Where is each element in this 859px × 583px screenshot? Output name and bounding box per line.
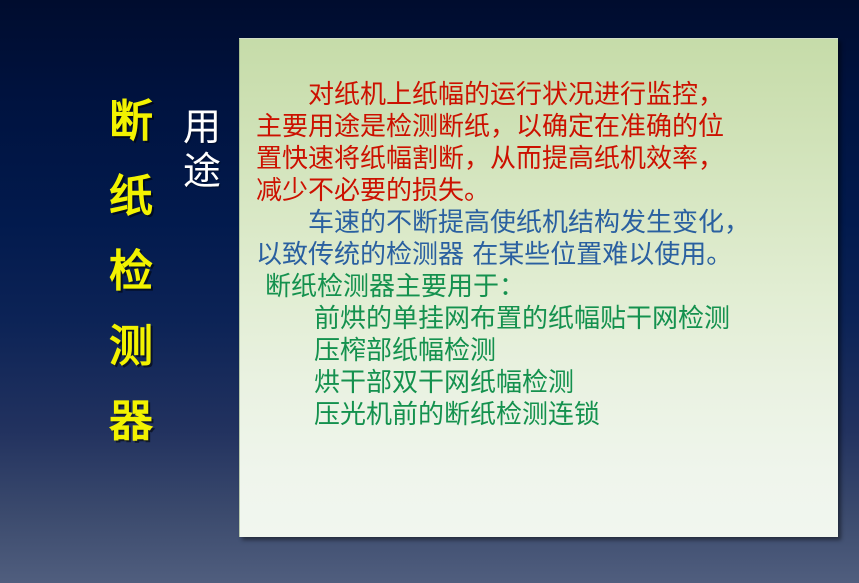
slide-canvas: 断 纸 检 测 器 用 途 对纸机上纸幅的运行状况进行监控， 主要用途是检测断纸… [0, 0, 859, 583]
vertical-title-char-5: 器 [109, 400, 153, 446]
vertical-title: 断 纸 检 测 器 [96, 100, 166, 446]
paragraph-background: 车速的不断提高使纸机结构发生变化， 以致传统的检测器 在某些位置难以使用。 [256, 207, 831, 271]
purpose-line-1: 对纸机上纸幅的运行状况进行监控， [256, 79, 831, 111]
paragraph-purpose: 对纸机上纸幅的运行状况进行监控， 主要用途是检测断纸，以确定在准确的位 置快速将… [256, 79, 831, 207]
applications-item-1: 前烘的单挂网布置的纸幅贴干网检测 [256, 303, 831, 335]
vertical-title-char-1: 断 [109, 100, 153, 146]
content-panel: 对纸机上纸幅的运行状况进行监控， 主要用途是检测断纸，以确定在准确的位 置快速将… [239, 38, 838, 537]
background-line-2: 以致传统的检测器 在某些位置难以使用。 [256, 239, 831, 271]
purpose-line-4: 减少不必要的损失。 [256, 175, 831, 207]
background-line-1: 车速的不断提高使纸机结构发生变化， [256, 207, 831, 239]
content-text-body: 对纸机上纸幅的运行状况进行监控， 主要用途是检测断纸，以确定在准确的位 置快速将… [256, 79, 831, 431]
applications-item-2: 压榨部纸幅检测 [256, 335, 831, 367]
vertical-title-char-3: 检 [109, 250, 153, 296]
applications-item-4: 压光机前的断纸检测连锁 [256, 399, 831, 431]
vertical-subtitle-char-2: 途 [183, 152, 221, 196]
vertical-title-char-4: 测 [109, 325, 153, 371]
paragraph-applications: 断纸检测器主要用于： 前烘的单挂网布置的纸幅贴干网检测 压榨部纸幅检测 烘干部双… [256, 271, 831, 431]
vertical-subtitle: 用 途 [176, 108, 228, 196]
vertical-title-char-2: 纸 [109, 175, 153, 221]
applications-header: 断纸检测器主要用于： [256, 271, 831, 303]
vertical-subtitle-char-1: 用 [183, 108, 221, 152]
purpose-line-3: 置快速将纸幅割断，从而提高纸机效率， [256, 143, 831, 175]
purpose-line-2: 主要用途是检测断纸，以确定在准确的位 [256, 111, 831, 143]
applications-item-3: 烘干部双干网纸幅检测 [256, 367, 831, 399]
